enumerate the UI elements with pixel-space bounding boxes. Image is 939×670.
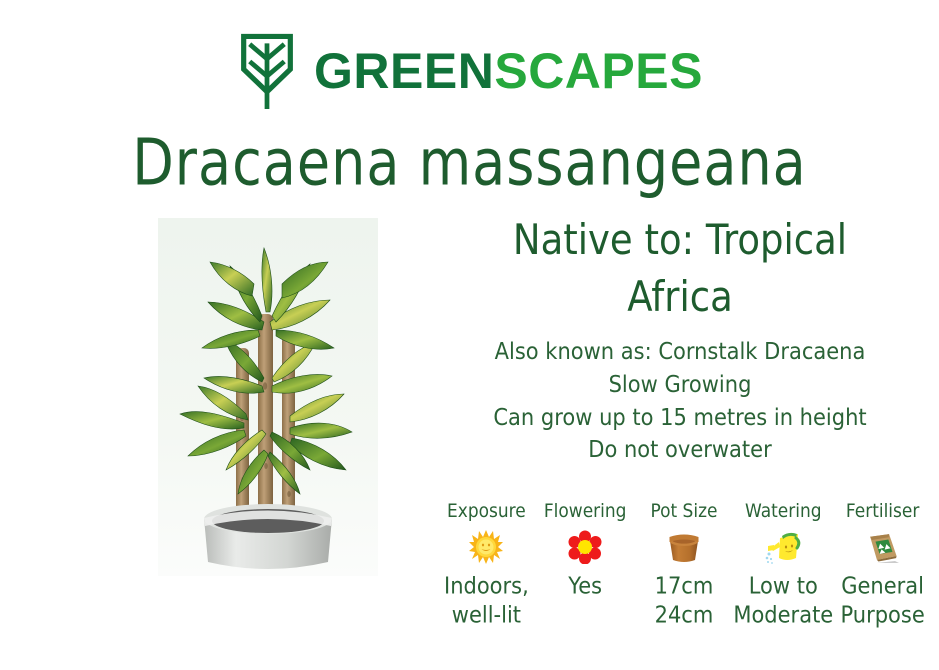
care-value-exposure-line-1: Indoors, — [437, 572, 536, 601]
plant-label-card: GREENSCAPES Dracaena massangeana — [0, 0, 939, 670]
care-value-pot-size: 17cm 24cm — [635, 572, 734, 629]
native-to-block: Native to: Tropical Africa — [430, 212, 930, 326]
brand-word-green: GREEN — [314, 43, 494, 99]
care-value-fertiliser: General Purpose — [833, 572, 932, 629]
plant-facts-block: Also known as: Cornstalk Dracaena Slow G… — [430, 336, 930, 467]
fact-watering-warning: Do not overwater — [430, 434, 930, 467]
care-value-pot-size-line-2: 24cm — [635, 601, 734, 630]
sun-icon — [437, 526, 536, 568]
care-column-watering: Watering — [733, 500, 833, 624]
care-header-fertiliser: Fertiliser — [833, 500, 932, 523]
leaf-shield-icon — [236, 33, 298, 109]
plant-pot-icon — [635, 526, 734, 568]
watering-can-icon — [733, 526, 833, 568]
care-value-watering-line-1: Low to — [733, 572, 833, 601]
brand-word-scapes: SCAPES — [494, 43, 703, 99]
care-header-pot-size: Pot Size — [635, 500, 734, 523]
care-column-pot-size: Pot Size — [635, 500, 734, 624]
care-value-fertiliser-line-1: General — [833, 572, 932, 601]
care-header-exposure: Exposure — [437, 500, 536, 523]
care-value-exposure-line-2: well-lit — [437, 601, 536, 630]
care-value-flowering-line-1: Yes — [536, 572, 635, 601]
care-value-exposure: Indoors, well-lit — [437, 572, 536, 629]
fact-growth-rate: Slow Growing — [430, 369, 930, 402]
fact-max-height: Can grow up to 15 metres in height — [430, 402, 930, 435]
care-value-watering-line-2: Moderate — [733, 601, 833, 630]
fact-also-known-as: Also known as: Cornstalk Dracaena — [430, 336, 930, 369]
care-value-watering: Low to Moderate — [733, 572, 833, 629]
care-column-flowering: Flowering Yes — [536, 500, 635, 598]
native-to-line-2: Africa — [430, 269, 930, 326]
fertiliser-bag-icon — [833, 526, 932, 568]
brand-wordmark: GREENSCAPES — [314, 46, 703, 96]
care-column-exposure: Exposure Indoors, well-lit — [437, 500, 536, 624]
care-value-pot-size-line-1: 17cm — [635, 572, 734, 601]
care-icon-table: Exposure Indoors, well-lit — [437, 500, 932, 624]
care-value-flowering: Yes — [536, 572, 635, 601]
brand-header: GREENSCAPES — [0, 32, 939, 110]
native-to-line-1: Native to: Tropical — [430, 212, 930, 269]
care-column-fertiliser: Fertiliser — [833, 500, 932, 624]
care-header-flowering: Flowering — [536, 500, 635, 523]
care-value-fertiliser-line-2: Purpose — [833, 601, 932, 630]
plant-photo — [158, 218, 378, 576]
page-title: Dracaena massangeana — [0, 128, 939, 198]
care-header-watering: Watering — [733, 500, 833, 523]
flower-icon — [536, 526, 635, 568]
